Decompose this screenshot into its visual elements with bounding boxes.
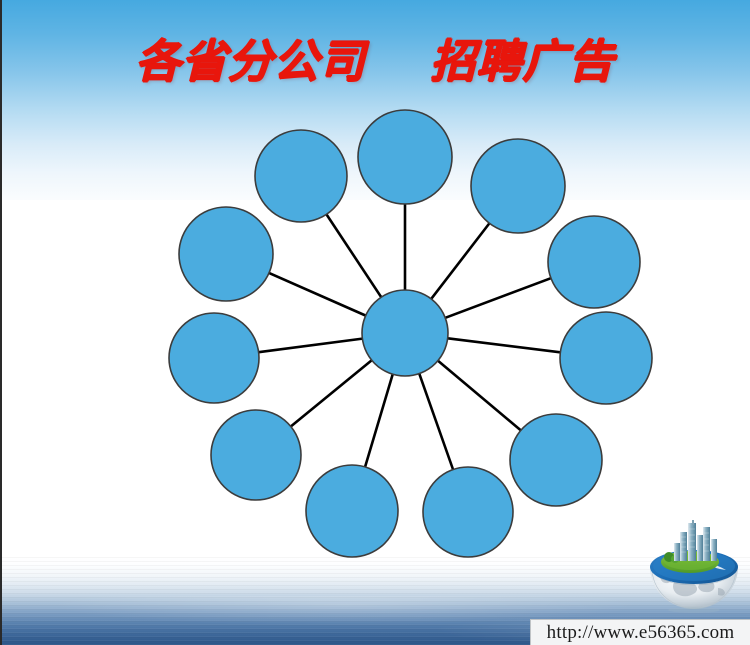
globe-shadow (668, 607, 720, 613)
node-circle[interactable] (548, 216, 640, 308)
diagram-node[interactable] (548, 216, 640, 308)
center-node[interactable] (362, 290, 448, 376)
diagram-node[interactable] (211, 410, 301, 500)
watermark-url-box: http://www.e56365.com (530, 619, 750, 645)
node-circle[interactable] (560, 312, 652, 404)
spoke-line (365, 373, 393, 468)
spoke-line (258, 339, 364, 353)
diagram-node[interactable] (510, 414, 602, 506)
node-circle[interactable] (358, 110, 452, 204)
node-circle[interactable] (471, 139, 565, 233)
diagram-node[interactable] (255, 130, 347, 222)
spoke-line (326, 214, 382, 299)
nodes-group (169, 110, 652, 557)
hub-and-spoke-diagram (0, 0, 750, 645)
node-circle[interactable] (169, 313, 259, 403)
spoke-line (419, 373, 454, 471)
spoke-line (431, 223, 490, 300)
diagram-node[interactable] (423, 467, 513, 557)
center-node-circle[interactable] (362, 290, 448, 376)
globe-city-logo (644, 518, 744, 614)
spoke-line (444, 278, 552, 318)
diagram-node[interactable] (358, 110, 452, 204)
spoke-line (437, 360, 521, 431)
spoke-line (447, 338, 562, 352)
diagram-svg (0, 0, 750, 645)
diagram-node[interactable] (560, 312, 652, 404)
node-circle[interactable] (306, 465, 398, 557)
node-circle[interactable] (423, 467, 513, 557)
node-circle[interactable] (211, 410, 301, 500)
diagram-node[interactable] (169, 313, 259, 403)
spoke-line (268, 273, 367, 316)
node-circle[interactable] (179, 207, 273, 301)
diagram-node[interactable] (306, 465, 398, 557)
node-circle[interactable] (255, 130, 347, 222)
slide-canvas: 各省分公司 招聘广告 (0, 0, 750, 645)
diagram-node[interactable] (471, 139, 565, 233)
watermark-url-text: http://www.e56365.com (547, 622, 735, 644)
node-circle[interactable] (510, 414, 602, 506)
spoke-line (290, 360, 373, 428)
diagram-node[interactable] (179, 207, 273, 301)
